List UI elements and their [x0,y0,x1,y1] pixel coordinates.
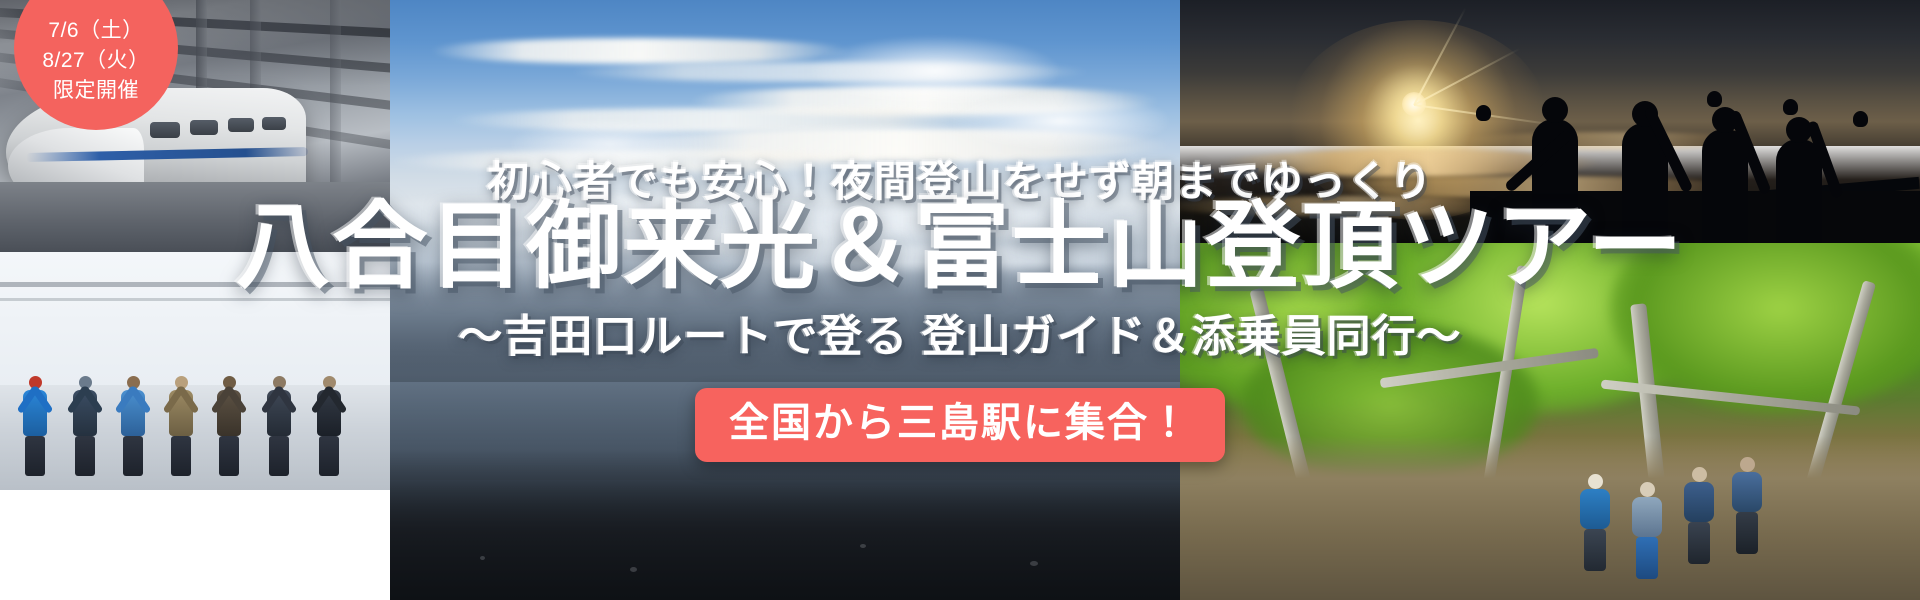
tour-banner: 7/6（土） 8/27（火） 限定開催 初心者でも安心！夜間登山をせず朝までゆっ… [0,0,1920,600]
photo-forest [1180,243,1920,600]
badge-note: 限定開催 [53,76,139,106]
photo-sunrise [1180,0,1920,243]
photo-main [390,0,1180,600]
cta-button[interactable]: 全国から三島駅に集合！ [695,388,1225,462]
badge-date-1: 7/6（土） [48,16,143,46]
badge-date-2: 8/27（火） [42,46,149,76]
photo-group [0,252,390,490]
